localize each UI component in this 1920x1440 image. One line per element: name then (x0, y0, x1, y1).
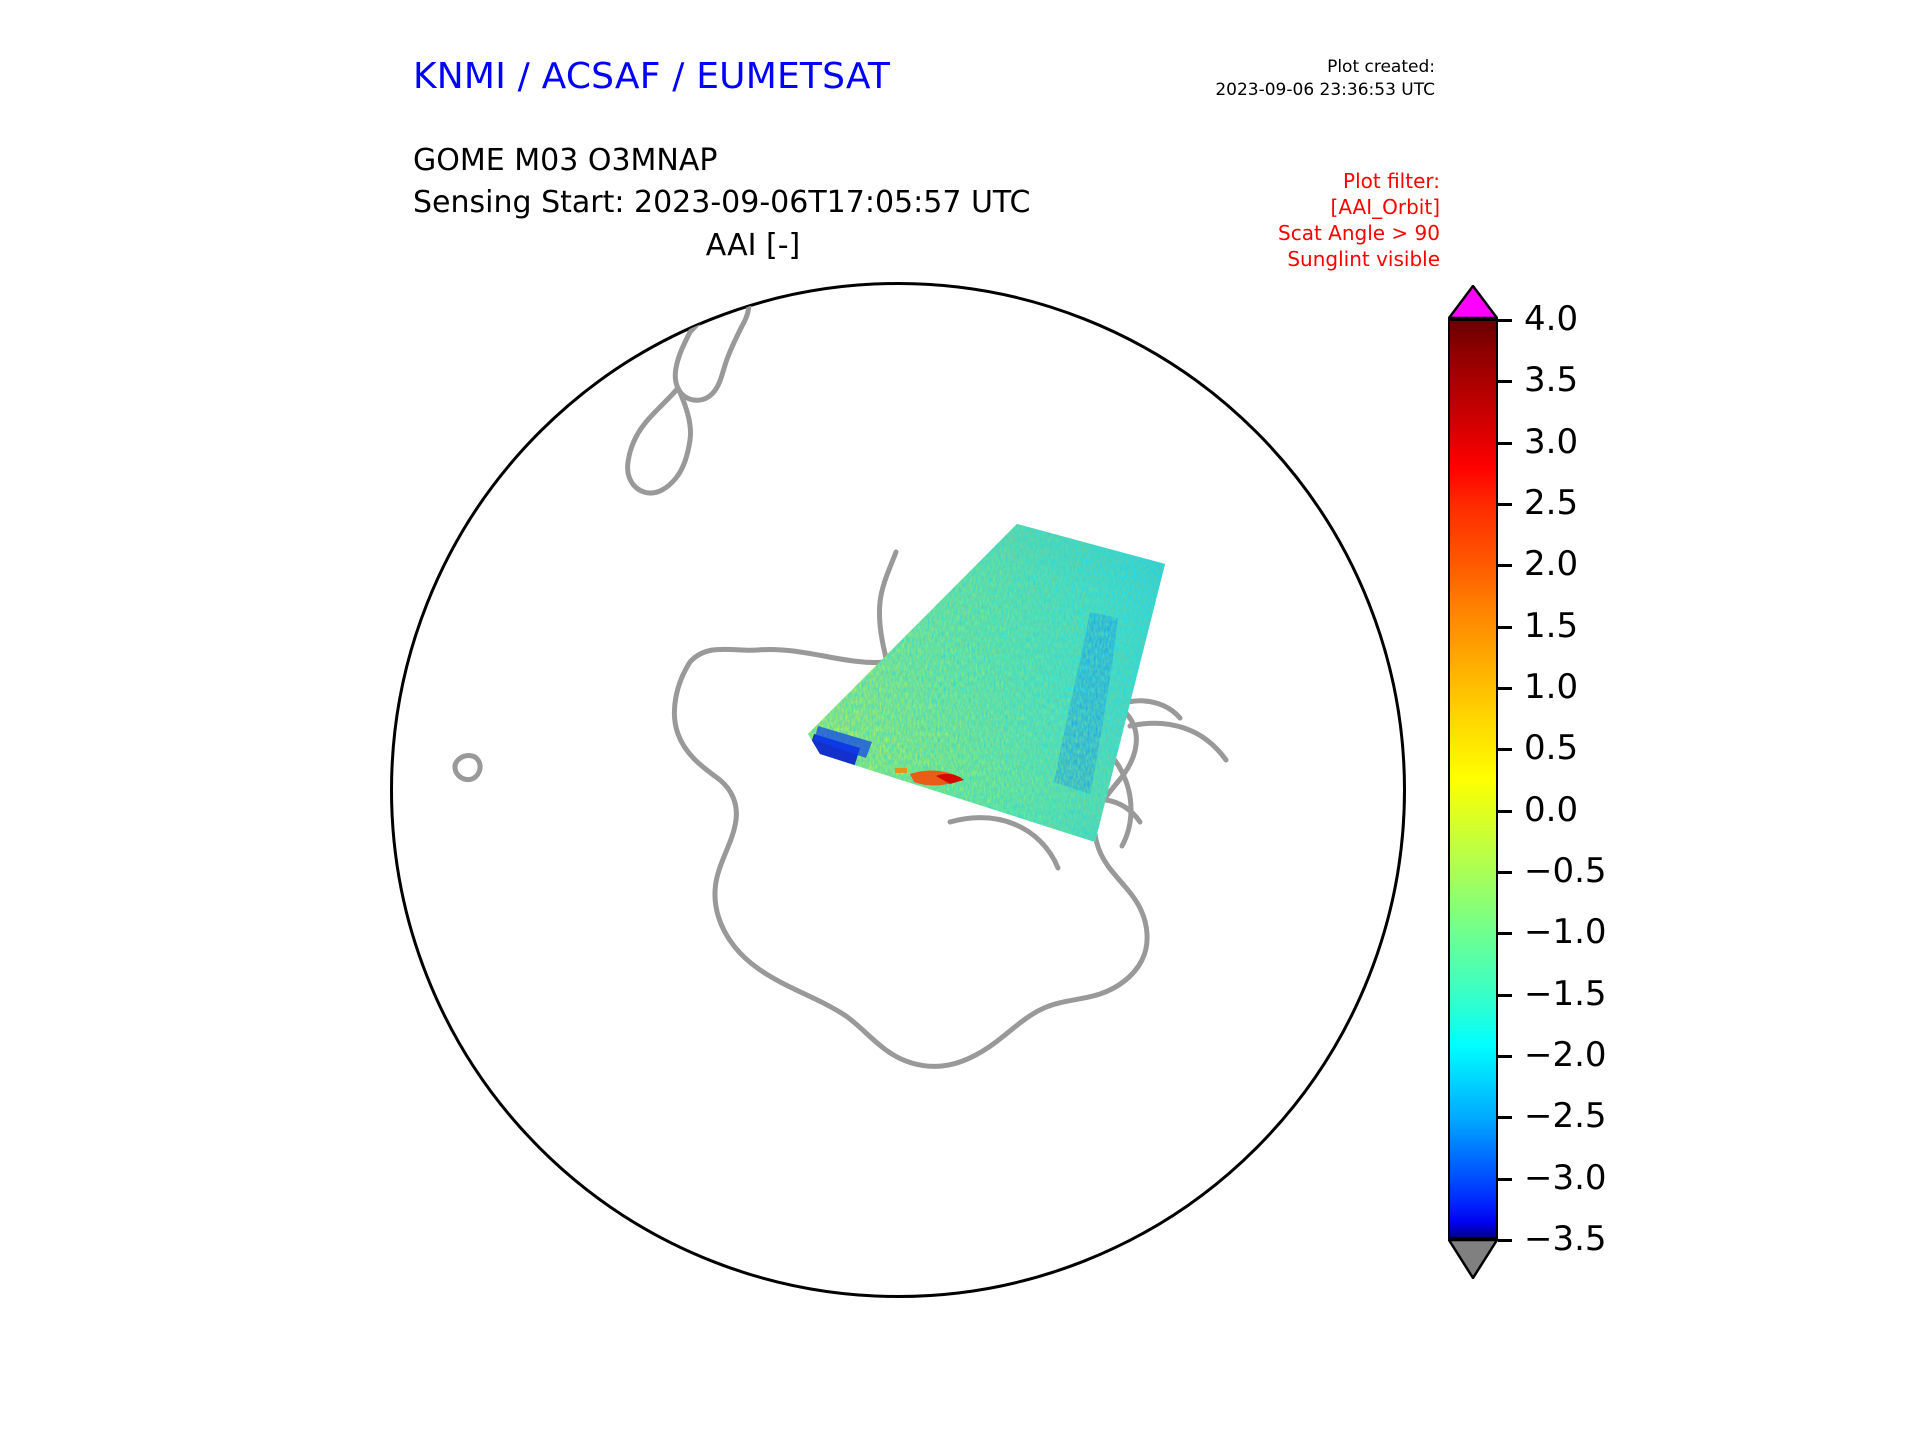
colorbar-tick-label: −3.0 (1524, 1161, 1607, 1195)
colorbar-tick (1498, 503, 1512, 506)
colorbar-tick (1498, 748, 1512, 751)
colorbar-tick (1498, 994, 1512, 997)
colorbar-tick (1498, 1055, 1512, 1058)
colorbar-tick (1498, 1239, 1512, 1242)
colorbar-over-range-arrow (1448, 285, 1498, 319)
colorbar-tick (1498, 442, 1512, 445)
plot-filter-block: Plot filter: [AAI_Orbit] Scat Angle > 90… (1150, 168, 1440, 272)
colorbar-tick-label: −2.0 (1524, 1038, 1607, 1072)
plot-created-block: Plot created: 2023-09-06 23:36:53 UTC (1155, 56, 1435, 102)
sensing-start: Sensing Start: 2023-09-06T17:05:57 UTC (413, 182, 1030, 224)
colorbar-tick-label: 4.0 (1524, 302, 1578, 336)
colorbar-tick (1498, 380, 1512, 383)
colorbar-tick-label: −1.0 (1524, 915, 1607, 949)
colorbar-tick-label: 2.5 (1524, 486, 1578, 520)
plot-created-label: Plot created: (1155, 56, 1435, 79)
colorbar-tick-label: 3.0 (1524, 425, 1578, 459)
colorbar-under-range-arrow (1448, 1239, 1498, 1279)
colorbar-gradient (1448, 319, 1498, 1239)
colorbar-tick (1498, 687, 1512, 690)
plot-created-timestamp: 2023-09-06 23:36:53 UTC (1155, 79, 1435, 102)
colorbar-tick-label: −2.5 (1524, 1099, 1607, 1133)
colorbar-tick (1498, 1178, 1512, 1181)
plot-filter-scat-angle: Scat Angle > 90 (1150, 220, 1440, 246)
colorbar: 4.03.53.02.52.01.51.00.50.0−0.5−1.0−1.5−… (1448, 285, 1508, 1295)
plot-filter-variable: [AAI_Orbit] (1150, 194, 1440, 220)
colorbar-tick-label: 0.0 (1524, 793, 1578, 827)
colorbar-tick-label: −1.5 (1524, 977, 1607, 1011)
page-title: KNMI / ACSAF / EUMETSAT (413, 56, 890, 97)
colorbar-tick (1498, 810, 1512, 813)
product-info-block: GOME M03 O3MNAP Sensing Start: 2023-09-0… (413, 140, 1030, 224)
polar-map (390, 282, 1410, 1302)
colorbar-tick (1498, 319, 1512, 322)
colorbar-tick-label: 1.0 (1524, 670, 1578, 704)
colorbar-tick-label: 0.5 (1524, 731, 1578, 765)
plot-filter-label: Plot filter: (1150, 168, 1440, 194)
colorbar-tick (1498, 871, 1512, 874)
colorbar-tick (1498, 1116, 1512, 1119)
plot-filter-sunglint: Sunglint visible (1150, 246, 1440, 272)
aai-data-swath (390, 282, 1410, 1302)
colorbar-tick (1498, 564, 1512, 567)
colorbar-tick-label: 3.5 (1524, 363, 1578, 397)
colorbar-tick (1498, 626, 1512, 629)
colorbar-tick-label: 2.0 (1524, 547, 1578, 581)
product-name: GOME M03 O3MNAP (413, 140, 1030, 182)
variable-title: AAI [-] (413, 228, 1093, 263)
colorbar-tick-label: 1.5 (1524, 609, 1578, 643)
colorbar-tick-label: −0.5 (1524, 854, 1607, 888)
colorbar-tick-label: −3.5 (1524, 1222, 1607, 1256)
colorbar-tick (1498, 932, 1512, 935)
